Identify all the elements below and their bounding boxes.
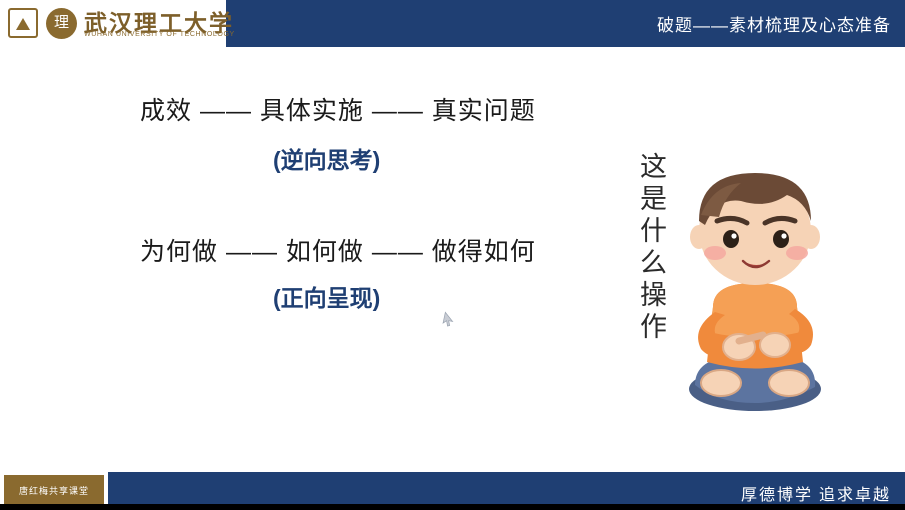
content-label-reverse-thinking: (逆向思考): [273, 141, 380, 175]
slide-body: 成效 —— 具体实施 —— 真实问题 (逆向思考) 为何做 —— 如何做 —— …: [0, 47, 905, 472]
footer-motto: 厚德博学 追求卓越: [741, 481, 891, 505]
triangle-emblem-icon: [8, 8, 38, 38]
university-name-en: WUHAN UNIVERSITY OF TECHNOLOGY: [84, 31, 235, 38]
header-title: 破题——素材梳理及心态准备: [657, 11, 891, 36]
university-seal-icon: 理: [46, 8, 77, 39]
content-label-forward-presentation: (正向呈现): [273, 279, 380, 313]
slide: 破题——素材梳理及心态准备 理 武汉理工大学 WUHAN UNIVERSITY …: [0, 0, 905, 510]
mouse-cursor-icon: [442, 311, 455, 327]
header-logo-area: 理 武汉理工大学 WUHAN UNIVERSITY OF TECHNOLOGY: [0, 0, 226, 47]
cartoon-boy-illustration: [655, 157, 855, 427]
header-blue-band: 破题——素材梳理及心态准备: [226, 0, 905, 47]
content-line-forward: 为何做 —— 如何做 —— 做得如何: [140, 232, 536, 268]
letterbox-bottom: [0, 504, 905, 510]
footer-badge: 唐红梅共享课堂: [4, 475, 104, 507]
slide-header: 破题——素材梳理及心态准备 理 武汉理工大学 WUHAN UNIVERSITY …: [0, 0, 905, 47]
content-line-reverse: 成效 —— 具体实施 —— 真实问题: [140, 91, 536, 127]
